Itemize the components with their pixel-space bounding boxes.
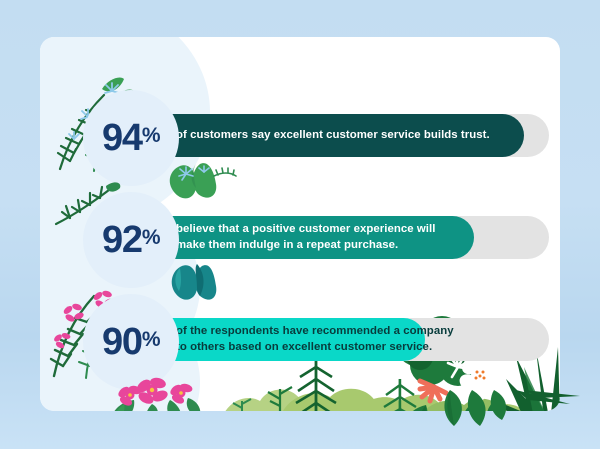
stat-text-3-line1: of the respondents have recommended a co… (176, 324, 454, 339)
stat-row-1: of customers say excellent customer serv… (40, 90, 560, 186)
percent-circle-1: 94% (83, 90, 179, 186)
stat-text-2-line2: make them indulge in a repeat purchase. (176, 238, 435, 253)
percent-circle-2: 92% (83, 192, 179, 288)
stat-text-1-line1: of customers say excellent customer serv… (176, 128, 490, 143)
percent-value-2: 92% (102, 221, 160, 259)
progress-track-3: of the respondents have recommended a co… (135, 318, 549, 361)
progress-track-2: believe that a positive customer experie… (135, 216, 549, 259)
percent-symbol-1: % (142, 124, 160, 147)
percent-number-2: 92 (102, 219, 142, 261)
stat-text-1: of customers say excellent customer serv… (176, 114, 490, 157)
stat-text-3-line2: to others based on excellent customer se… (176, 340, 454, 355)
percent-circle-3: 90% (83, 294, 179, 390)
stat-text-2: believe that a positive customer experie… (176, 216, 435, 259)
card-clip: of customers say excellent customer serv… (40, 37, 560, 411)
stat-row-2: believe that a positive customer experie… (40, 192, 560, 288)
progress-track-1: of customers say excellent customer serv… (135, 114, 549, 157)
percent-symbol-2: % (142, 226, 160, 249)
percent-number-1: 94 (102, 117, 142, 159)
stat-row-3: of the respondents have recommended a co… (40, 294, 560, 390)
stat-text-2-line1: believe that a positive customer experie… (176, 222, 435, 237)
percent-value-3: 90% (102, 323, 160, 361)
stat-text-3: of the respondents have recommended a co… (176, 318, 454, 361)
percent-number-3: 90 (102, 321, 142, 363)
percent-value-1: 94% (102, 119, 160, 157)
percent-symbol-3: % (142, 328, 160, 351)
infographic-card: of customers say excellent customer serv… (40, 37, 560, 411)
